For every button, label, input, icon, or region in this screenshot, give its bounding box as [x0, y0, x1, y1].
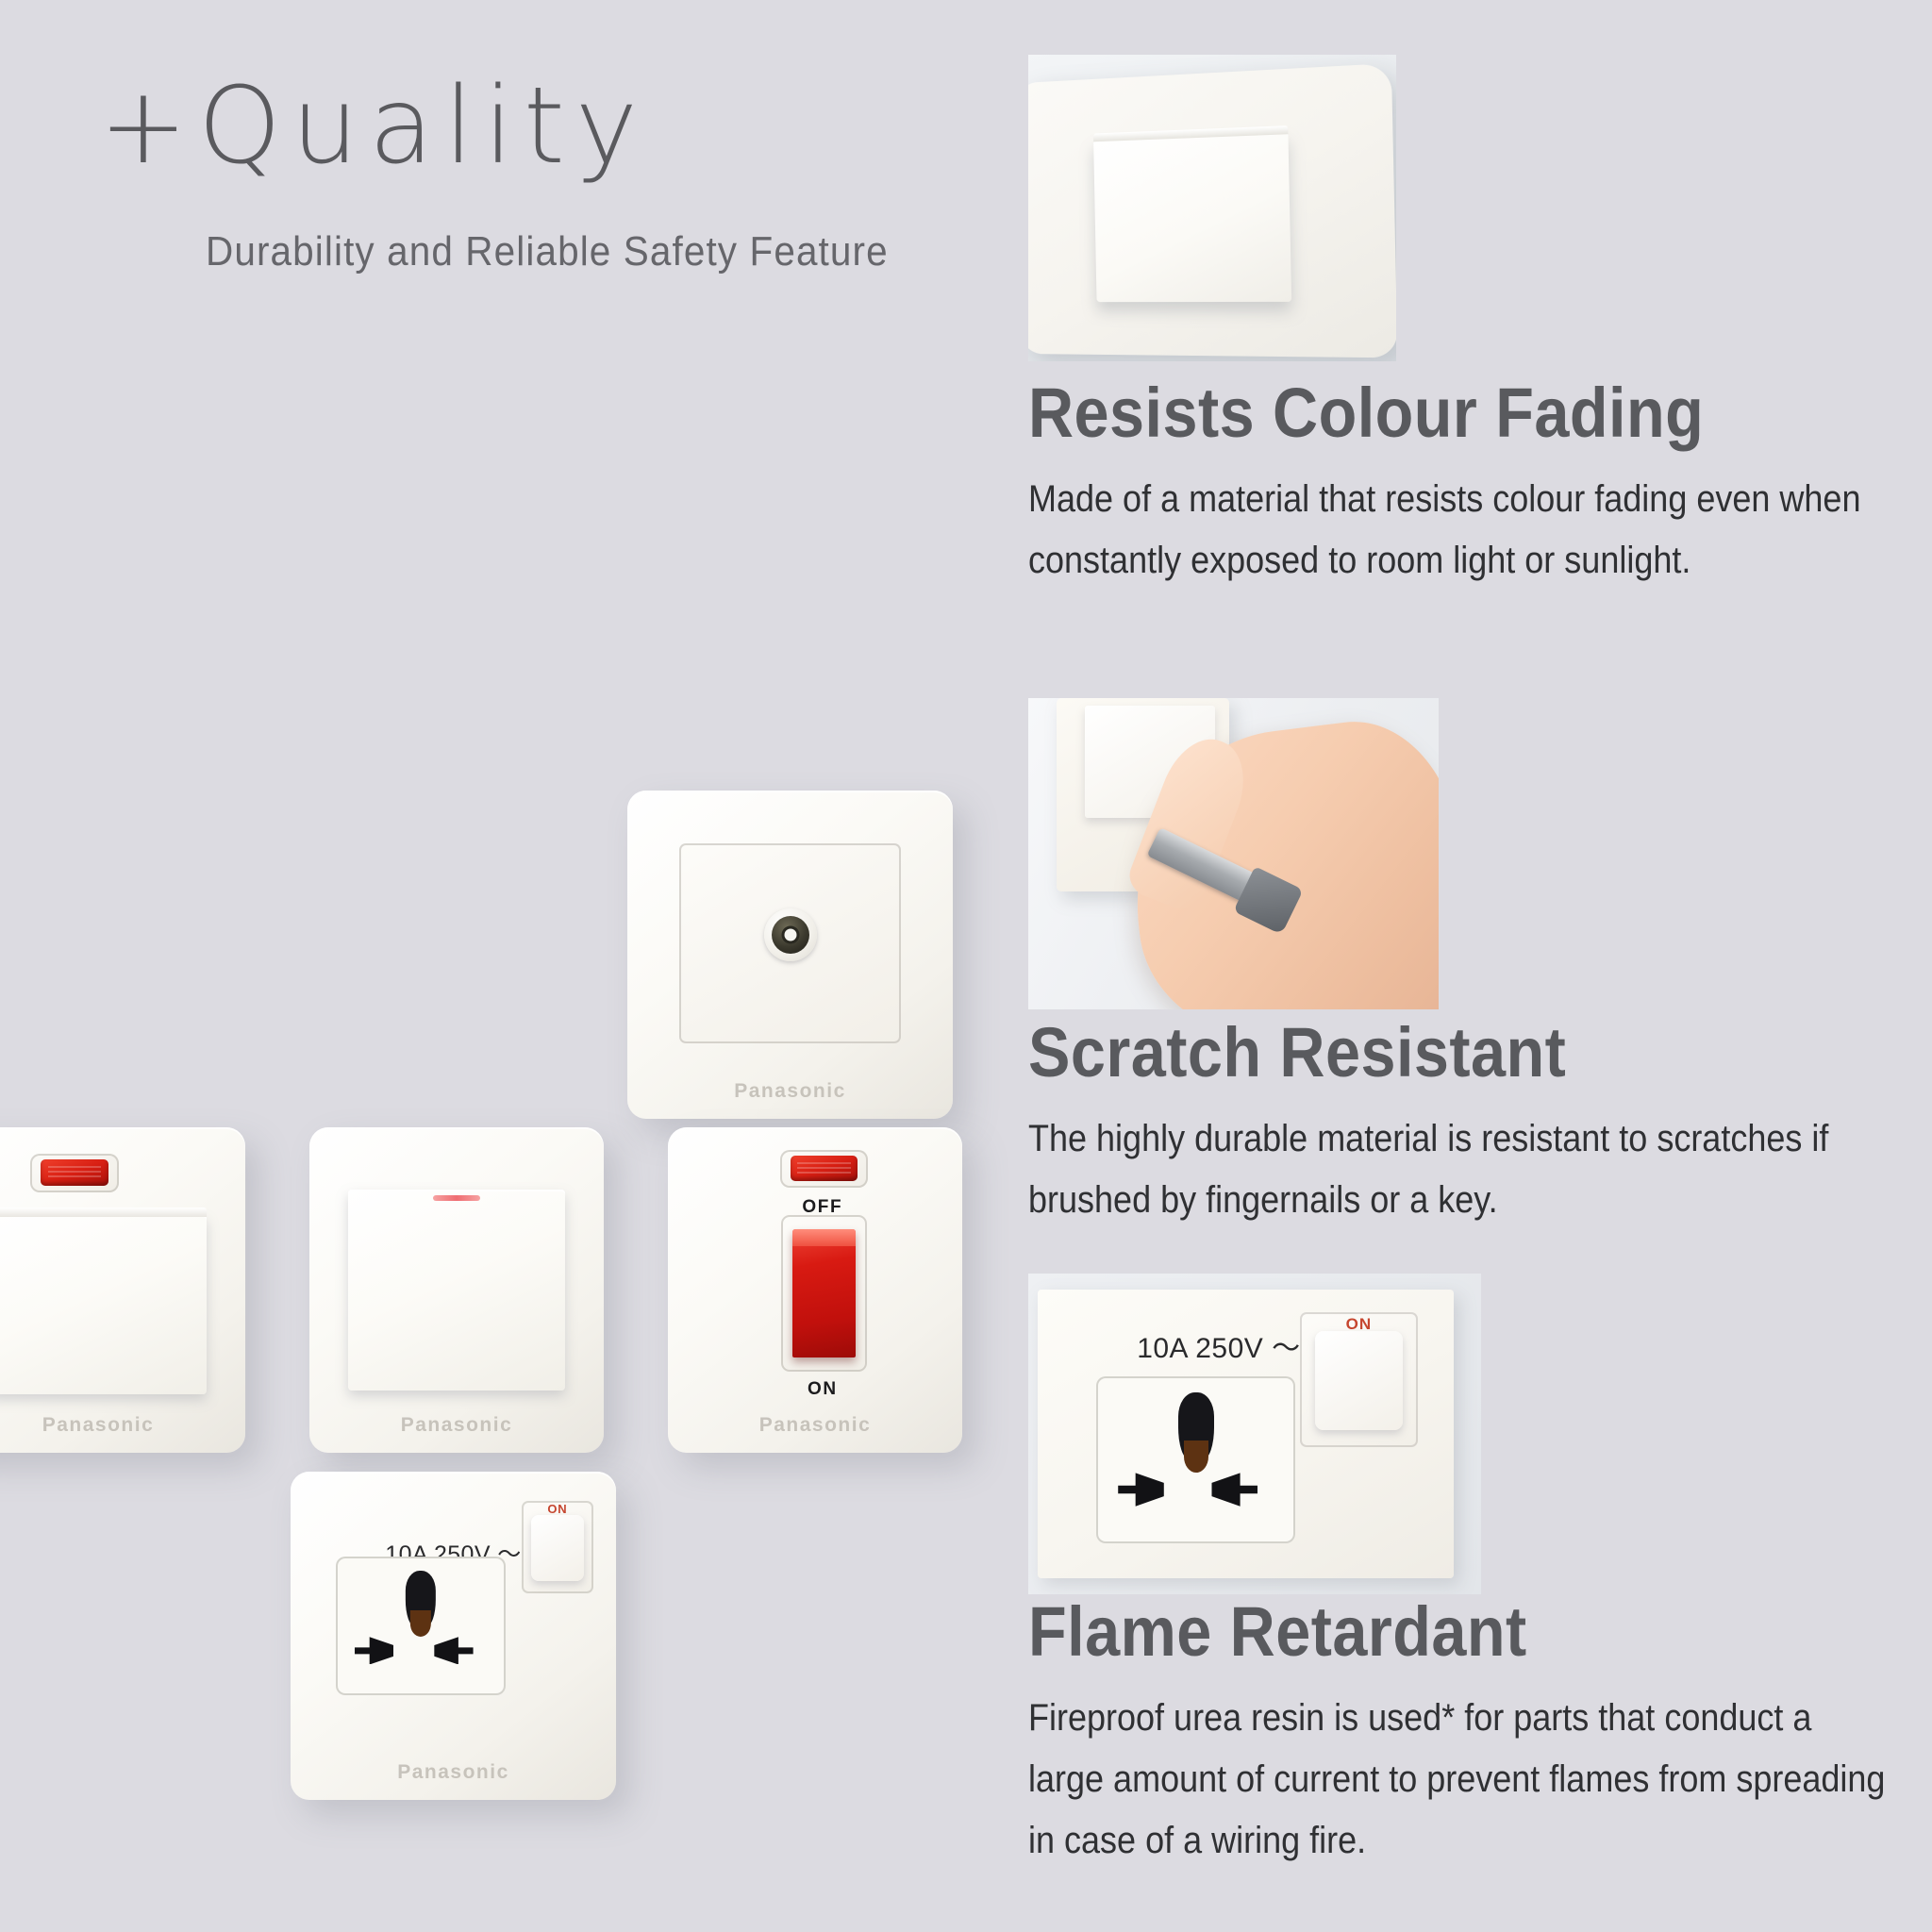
page-title: +Quality: [99, 74, 648, 179]
neon-indicator-icon: [791, 1156, 858, 1181]
product-tv-antenna-socket: Panasonic: [627, 791, 953, 1119]
rocker-frame: [781, 1215, 866, 1372]
feature-heading: Scratch Resistant: [1028, 1017, 1801, 1088]
coax-connector-icon: [764, 908, 817, 961]
red-rocker-switch[interactable]: [792, 1229, 856, 1357]
product-switch-plain: Panasonic: [309, 1127, 604, 1453]
brand-logo: Panasonic: [42, 1414, 155, 1437]
neon-window: [30, 1154, 119, 1192]
switch-label-on: ON: [808, 1379, 838, 1400]
product-switch-with-neon: Panasonic: [0, 1127, 245, 1453]
neon-window: [780, 1150, 869, 1188]
socket-switch[interactable]: ON: [522, 1501, 593, 1592]
product-switched-socket: 10A 250V ～ ON Panasonic: [291, 1472, 616, 1800]
locator-strip-icon: [433, 1195, 480, 1201]
features-column: Resists Colour Fading Made of a material…: [1028, 0, 1887, 1932]
page-subtitle: Durability and Reliable Safety Feature: [206, 228, 889, 275]
neutral-pin-hole-icon: [434, 1637, 473, 1664]
feature-body: Made of a material that resists colour f…: [1028, 469, 1886, 591]
poster-canvas: +Quality Durability and Reliable Safety …: [0, 0, 1932, 1932]
rocker-switch[interactable]: [0, 1215, 207, 1394]
socket-rocker[interactable]: [531, 1515, 584, 1581]
feature-body: The highly durable material is resistant…: [1028, 1108, 1886, 1231]
feature-heading: Flame Retardant: [1028, 1596, 1801, 1667]
neon-indicator-icon: [41, 1159, 108, 1186]
live-pin-hole-icon: [355, 1637, 393, 1664]
feature-body: Fireproof urea resin is used* for parts …: [1028, 1688, 1886, 1871]
feature-flame-retardant: Flame Retardant Fireproof urea resin is …: [1028, 1596, 1887, 1872]
brand-logo: Panasonic: [734, 1080, 846, 1103]
brand-logo: Panasonic: [401, 1414, 513, 1437]
feature-colour-fading: Resists Colour Fading Made of a material…: [1028, 377, 1887, 591]
product-double-pole-switch: OFF ON Panasonic: [668, 1127, 962, 1453]
brand-logo: Panasonic: [759, 1414, 872, 1437]
earth-pin-hole-icon: [406, 1571, 436, 1625]
feature-scratch-resistant: Scratch Resistant The highly durable mat…: [1028, 1017, 1887, 1231]
brand-logo: Panasonic: [397, 1761, 509, 1784]
feature-heading: Resists Colour Fading: [1028, 377, 1801, 448]
universal-socket-outlet: [336, 1557, 505, 1694]
rocker-switch[interactable]: [348, 1190, 566, 1391]
